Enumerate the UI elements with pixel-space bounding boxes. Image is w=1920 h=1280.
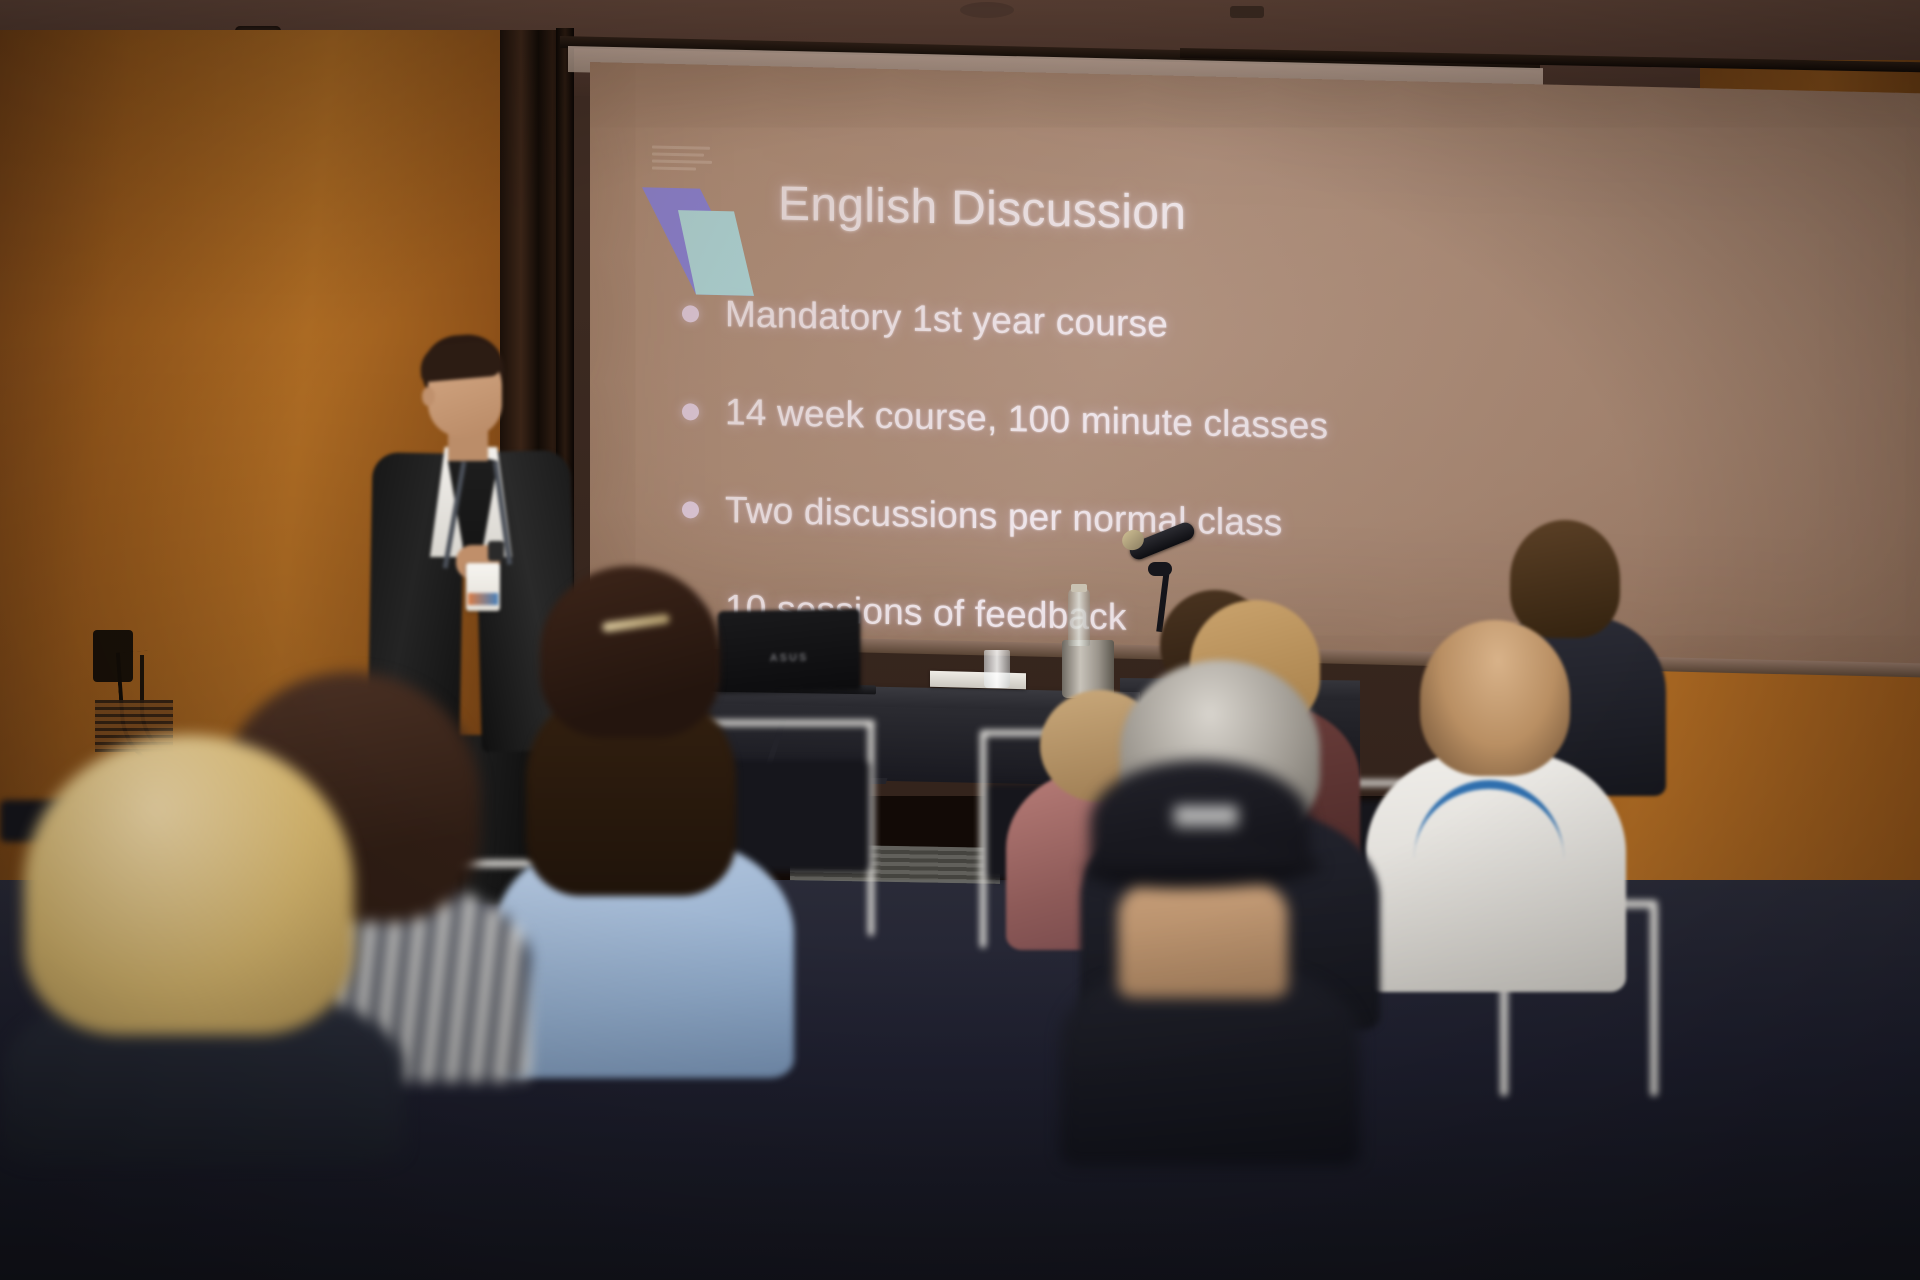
bullet-dot-icon	[682, 403, 699, 420]
wordmark-line-2	[652, 152, 704, 156]
slide-title: English Discussion	[778, 176, 1186, 241]
drinking-glass	[984, 650, 1010, 688]
head	[540, 566, 720, 738]
presenter-clicker	[488, 541, 504, 561]
bullet-item: 14 week course, 100 minute classes	[682, 390, 1802, 458]
parallelogram-logo	[638, 181, 758, 304]
microphone-clip	[1148, 562, 1172, 576]
head	[24, 735, 354, 1035]
head	[1420, 620, 1570, 776]
water-bottle	[1068, 588, 1090, 646]
wordmark-line-4	[652, 166, 696, 170]
ceiling-fixture	[1230, 6, 1264, 18]
bullet-dot-icon	[682, 501, 699, 518]
bullet-dot-icon	[682, 305, 699, 322]
smoke-detector-icon	[960, 2, 1014, 18]
presentation-slide: English Discussion Mandatory 1st year co…	[590, 62, 1920, 674]
bullet-text: 14 week course, 100 minute classes	[725, 391, 1328, 447]
wordmark-line-3	[652, 159, 712, 163]
bottle-cap	[1071, 584, 1087, 592]
bullet-text: Two discussions per normal class	[725, 489, 1283, 544]
presenter-name-badge	[466, 563, 500, 611]
institution-wordmark	[652, 145, 714, 170]
bullet-text: Mandatory 1st year course	[725, 293, 1168, 345]
wordmark-line-1	[652, 145, 710, 149]
projection-screen: English Discussion Mandatory 1st year co…	[590, 62, 1920, 674]
conference-photo: English Discussion Mandatory 1st year co…	[0, 0, 1920, 1280]
neck	[1118, 878, 1288, 998]
papers	[930, 671, 1026, 690]
presenter-ear	[422, 387, 435, 406]
ice-bucket	[1062, 640, 1114, 698]
badge-color-strip	[468, 593, 498, 605]
laptop-brand-label: ASUS	[762, 652, 816, 665]
bullet-item: Two discussions per normal class	[682, 488, 1802, 556]
laptop[interactable]: ASUS	[718, 609, 860, 691]
bullet-item: Mandatory 1st year course	[682, 292, 1802, 360]
cap-label	[1174, 806, 1238, 828]
head	[1510, 520, 1620, 638]
